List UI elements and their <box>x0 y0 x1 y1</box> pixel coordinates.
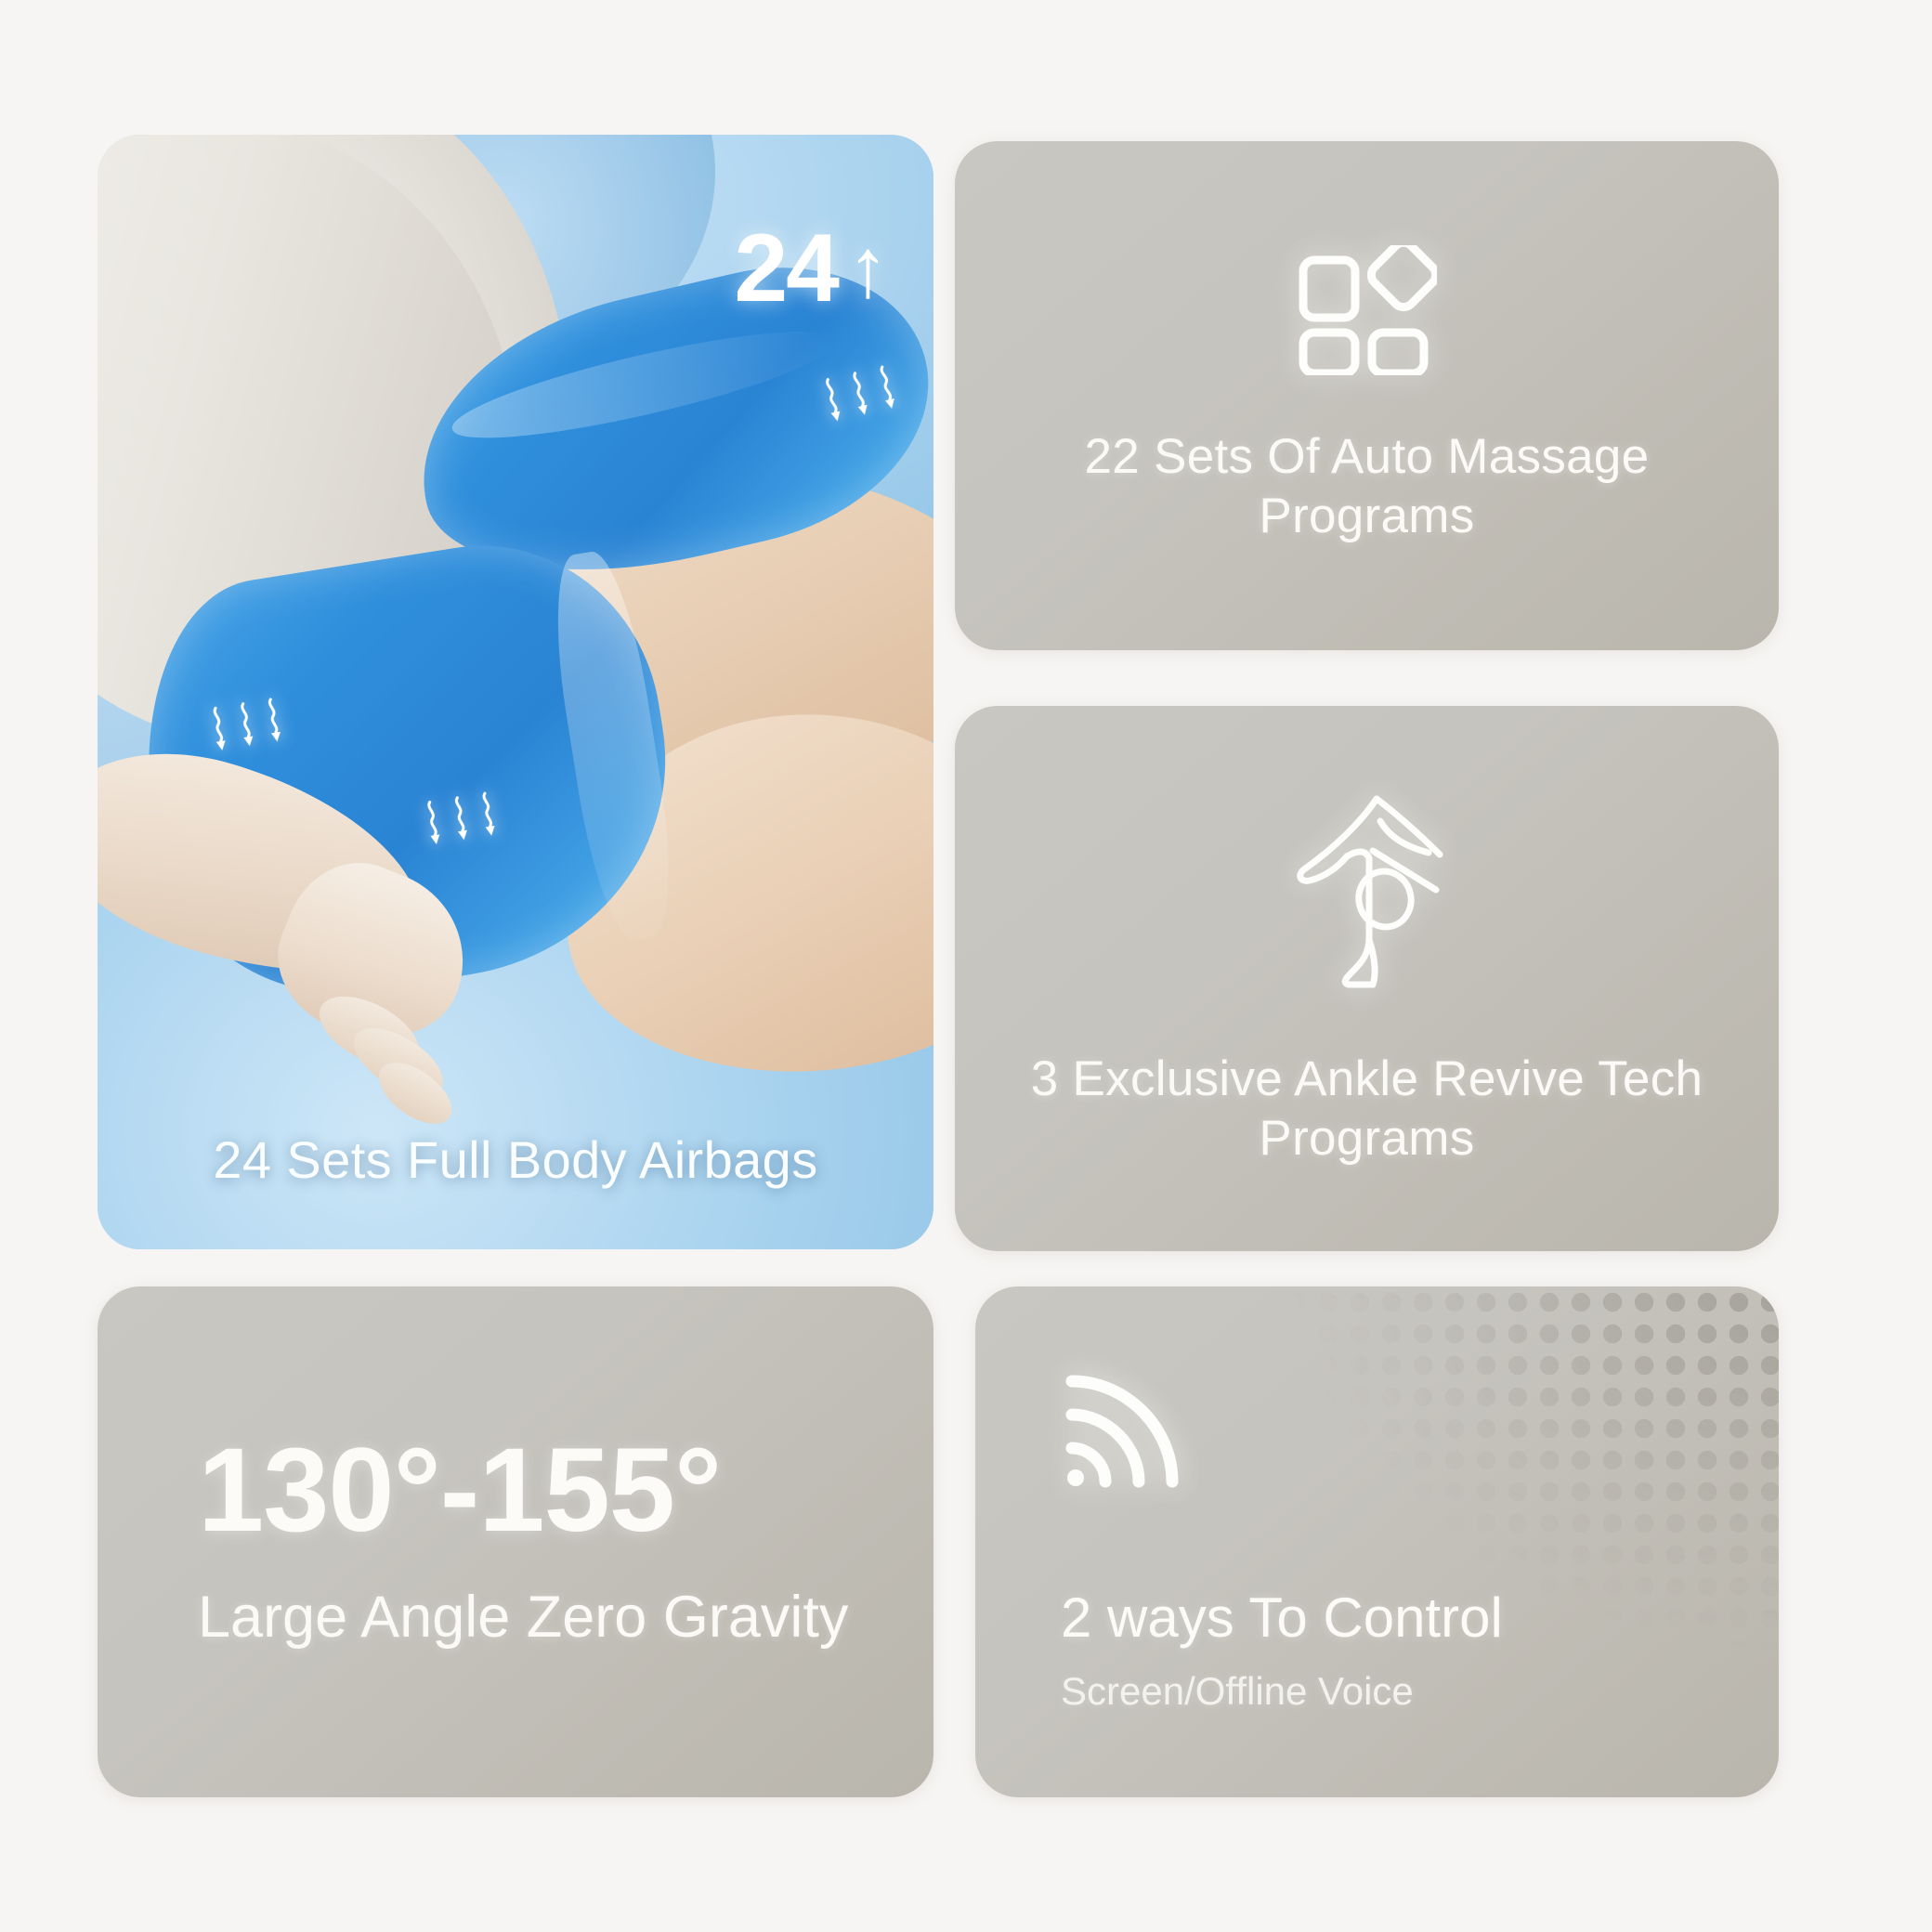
airflow-arrows-foot <box>820 364 900 427</box>
ankle-title: 3 Exclusive Ankle Revive Tech Programs <box>988 1050 1745 1168</box>
angle-label: Large Angle Zero Gravity <box>198 1582 896 1653</box>
card-zero-gravity-angle[interactable]: 130°-155° Large Angle Zero Gravity <box>98 1286 933 1797</box>
feature-grid-board: 24 ↑ 24 Sets Full Body Airbags 22 Sets O… <box>0 0 1932 1932</box>
card-ankle-revive-programs[interactable]: 3 Exclusive Ankle Revive Tech Programs <box>955 706 1779 1251</box>
airflow-arrow-icon <box>820 376 845 426</box>
card-auto-massage-programs[interactable]: 22 Sets Of Auto Massage Programs <box>955 141 1779 650</box>
airflow-arrow-icon <box>477 790 500 841</box>
airflow-arrow-icon <box>236 700 258 751</box>
airbags-caption: 24 Sets Full Body Airbags <box>98 1129 933 1190</box>
airflow-arrows-calf-lower <box>423 790 500 849</box>
airbag-count-number: 24 <box>734 220 838 317</box>
airbag-count-overlay: 24 ↑ <box>734 220 889 317</box>
wifi-voice-icon <box>1061 1372 1742 1493</box>
angle-range-value: 130°-155° <box>198 1431 896 1550</box>
angle-content: 130°-155° Large Angle Zero Gravity <box>198 1431 896 1653</box>
airflow-arrow-icon <box>263 696 285 746</box>
programs-title: 22 Sets Of Auto Massage Programs <box>988 427 1745 545</box>
up-arrow-icon: ↑ <box>847 227 889 310</box>
airflow-arrow-icon <box>875 364 900 414</box>
card-two-ways-to-control[interactable]: 2 ways To Control Screen/Offline Voice <box>975 1286 1779 1797</box>
airflow-arrow-icon <box>847 371 872 421</box>
control-title: 2 ways To Control <box>1061 1586 1742 1651</box>
airflow-arrow-icon <box>450 795 472 845</box>
airflow-arrow-icon <box>208 705 230 755</box>
airflow-arrows-calf-upper <box>208 696 285 754</box>
control-content: 2 ways To Control Screen/Offline Voice <box>1061 1372 1742 1715</box>
leg-ankle-icon <box>1276 790 1458 994</box>
card-full-body-airbags[interactable]: 24 ↑ 24 Sets Full Body Airbags <box>98 135 933 1249</box>
airflow-arrow-icon <box>423 800 445 850</box>
grid-shapes-icon <box>1298 245 1437 375</box>
control-subtitle: Screen/Offline Voice <box>1061 1668 1742 1715</box>
